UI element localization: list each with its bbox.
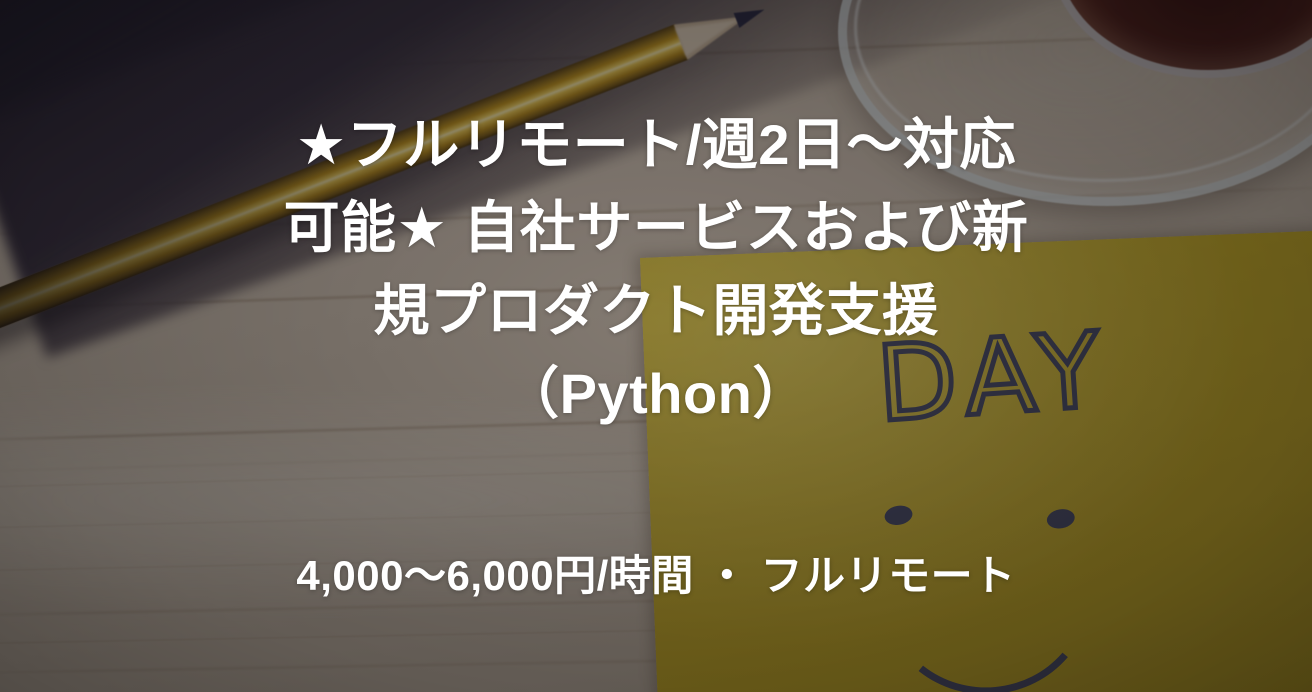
job-title-headline: ★フルリモート/週2日〜対応可能★ 自社サービスおよび新規プロダクト開発支援（P…	[276, 104, 1036, 436]
banner-image: DAY ★フルリモート/週2日〜対応可能★ 自社サービスおよび新規プロダクト開発…	[0, 0, 1312, 692]
job-rate-and-workstyle: 4,000〜6,000円/時間 ・ フルリモート	[296, 542, 1015, 603]
banner-text-overlay: ★フルリモート/週2日〜対応可能★ 自社サービスおよび新規プロダクト開発支援（P…	[0, 0, 1312, 692]
